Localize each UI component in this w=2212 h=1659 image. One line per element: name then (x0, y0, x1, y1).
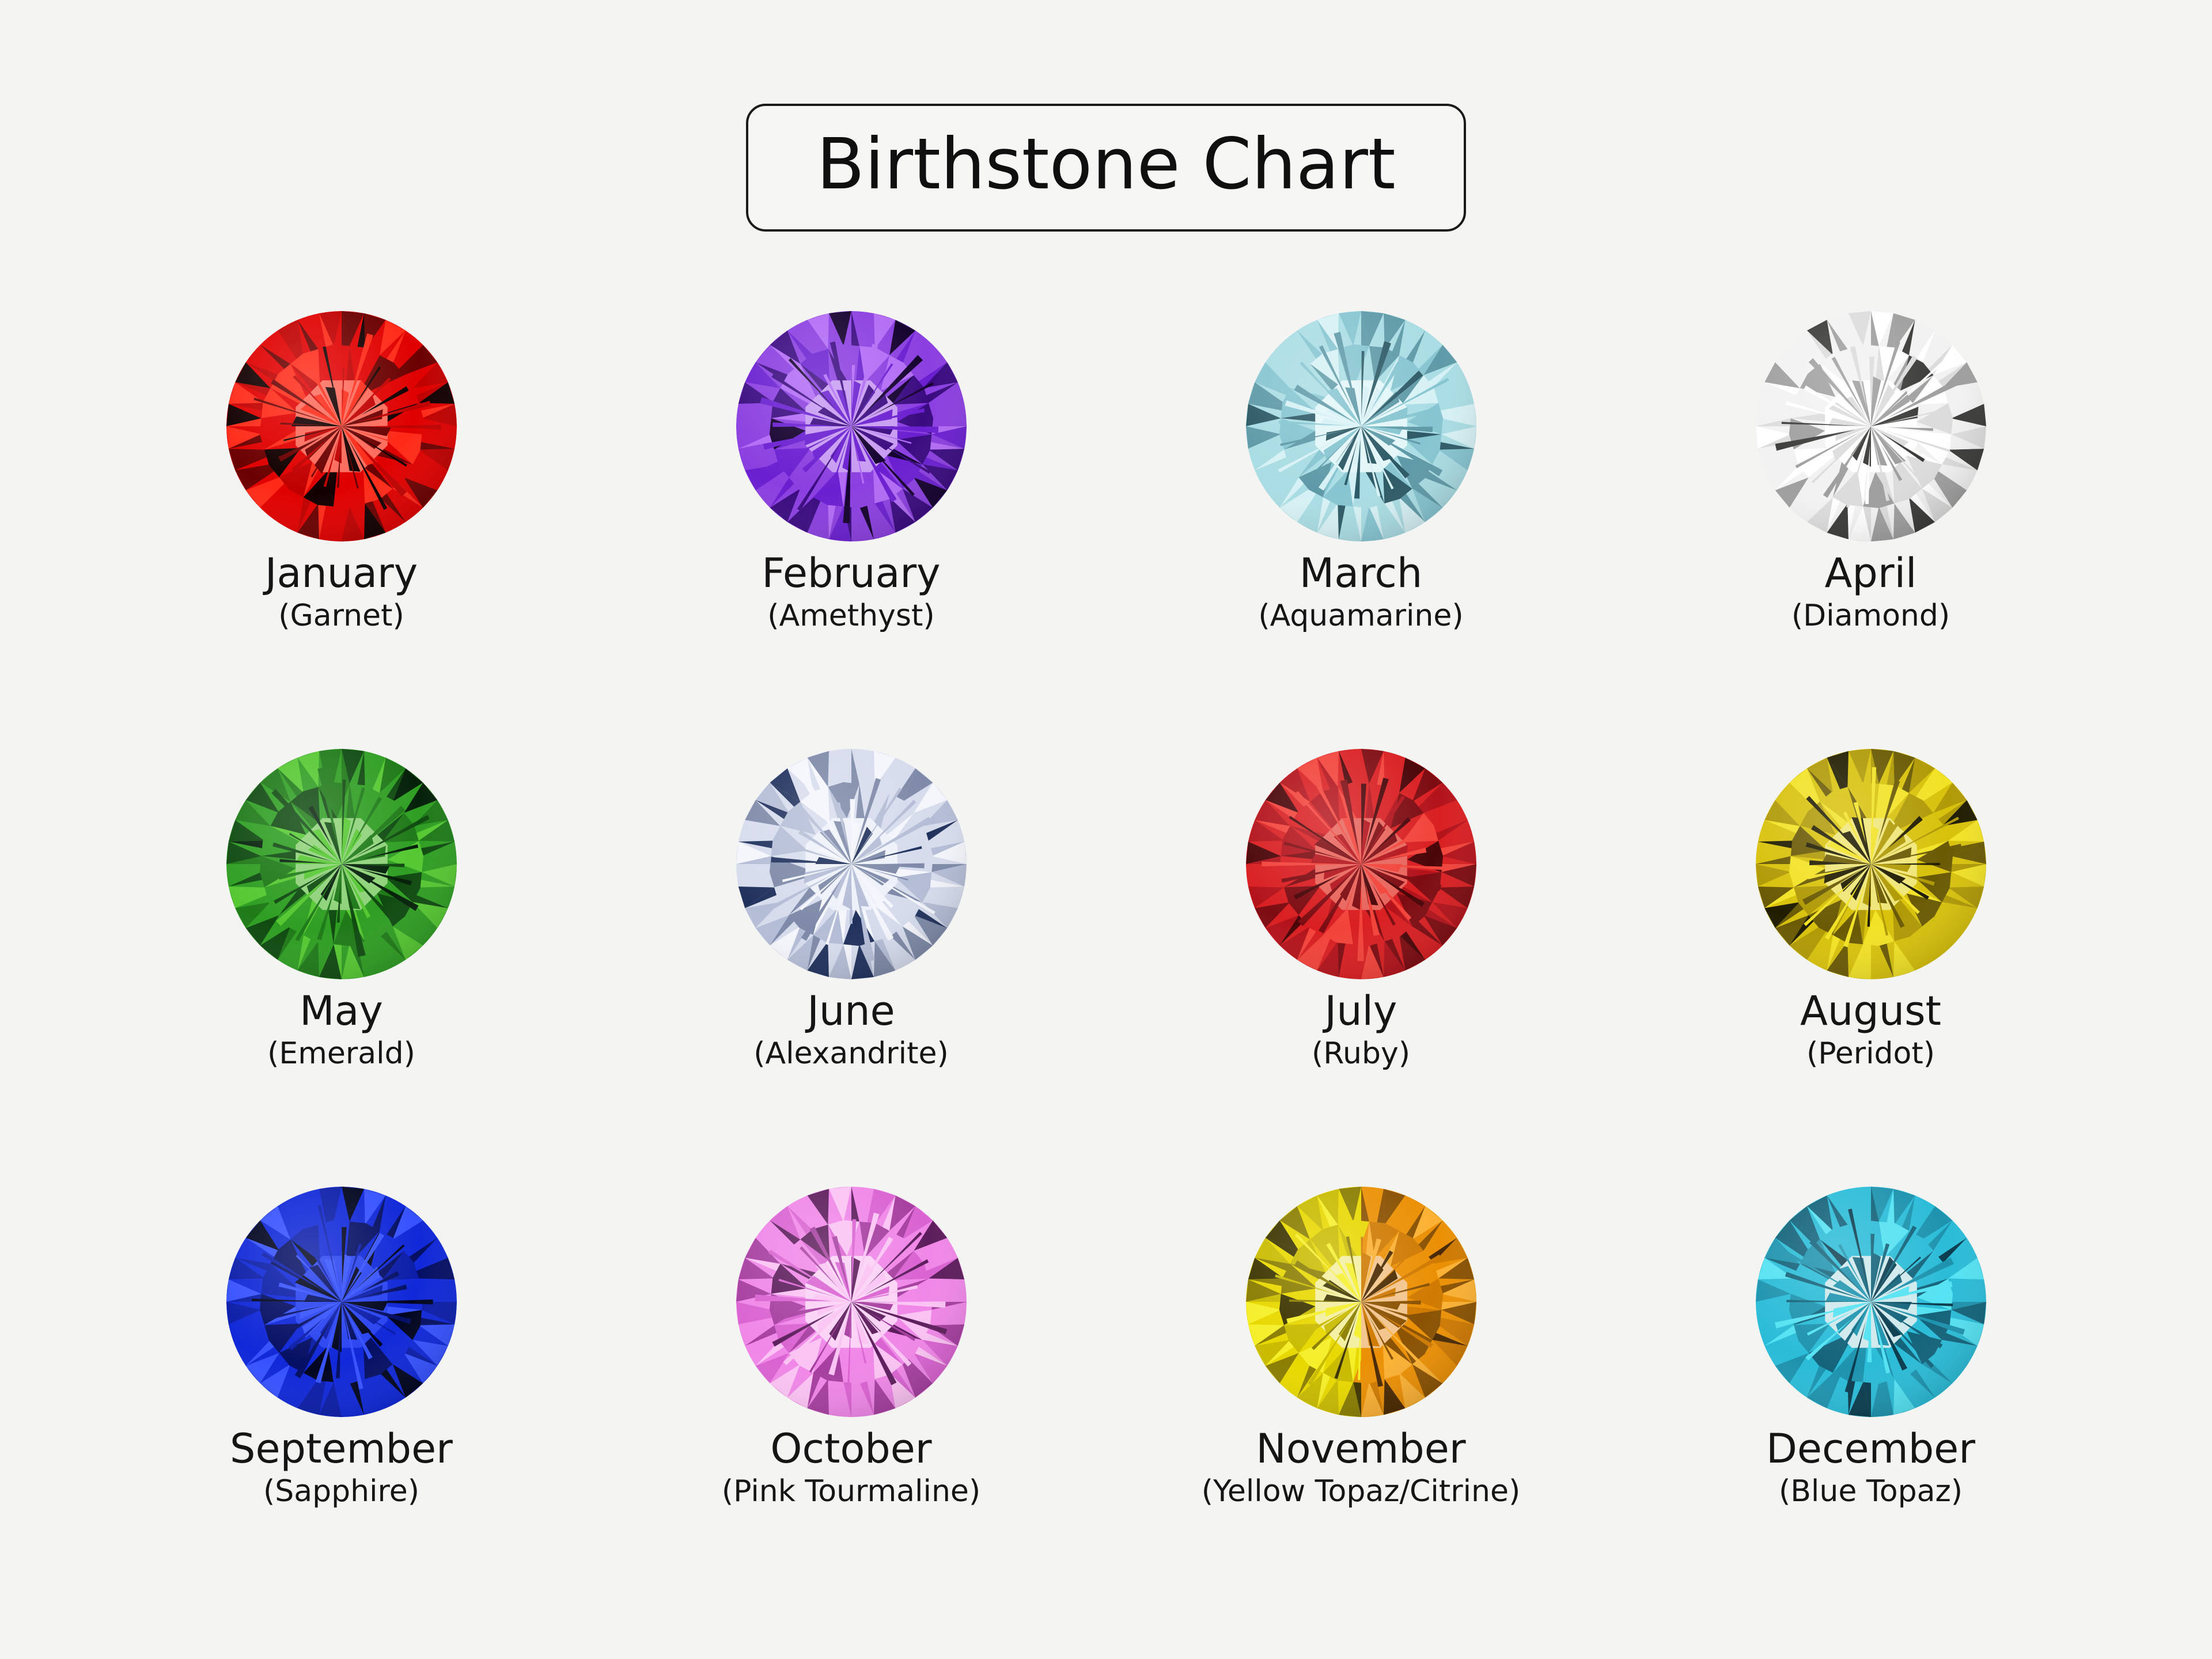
round-brilliant-gem-icon (736, 1187, 967, 1417)
round-brilliant-gem-icon (1756, 311, 1986, 541)
month-label: March (1300, 553, 1422, 594)
birthstone-cell[interactable]: November(Yellow Topaz/Citrine) (1106, 1187, 1616, 1624)
round-brilliant-gem-icon (1246, 311, 1476, 541)
birthstone-cell[interactable]: May(Emerald) (86, 749, 596, 1187)
stone-label: (Yellow Topaz/Citrine) (1202, 1476, 1521, 1507)
stone-label: (Garnet) (278, 601, 404, 631)
birthstone-cell[interactable]: March(Aquamarine) (1106, 311, 1616, 749)
month-label: July (1325, 991, 1397, 1032)
round-brilliant-gem-icon (736, 749, 967, 979)
month-label: May (300, 991, 383, 1032)
page-title: Birthstone Chart (816, 129, 1395, 199)
birthstone-cell[interactable]: June(Alexandrite) (596, 749, 1106, 1187)
stone-label: (Diamond) (1791, 601, 1950, 631)
round-brilliant-gem-icon (736, 311, 967, 541)
stone-label: (Pink Tourmaline) (722, 1476, 980, 1507)
month-label: November (1256, 1429, 1465, 1469)
birthstone-cell[interactable]: February(Amethyst) (596, 311, 1106, 749)
title-bar: Birthstone Chart (0, 104, 2212, 232)
round-brilliant-gem-icon (1246, 749, 1476, 979)
birthstone-cell[interactable]: September(Sapphire) (86, 1187, 596, 1624)
month-label: September (230, 1429, 453, 1469)
birthstone-grid: January(Garnet)February(Amethyst)March(A… (86, 311, 2126, 1624)
birthstone-cell[interactable]: October(Pink Tourmaline) (596, 1187, 1106, 1624)
birthstone-cell[interactable]: July(Ruby) (1106, 749, 1616, 1187)
round-brilliant-gem-icon (1756, 1187, 1986, 1417)
month-label: April (1825, 553, 1917, 594)
birthstone-cell[interactable]: January(Garnet) (86, 311, 596, 749)
stone-label: (Amethyst) (767, 601, 934, 631)
title-box: Birthstone Chart (746, 104, 1465, 232)
round-brilliant-gem-icon (226, 749, 457, 979)
round-brilliant-gem-icon-split (1246, 1187, 1476, 1417)
stone-label: (Ruby) (1312, 1039, 1410, 1069)
stone-label: (Alexandrite) (753, 1039, 948, 1069)
birthstone-cell[interactable]: December(Blue Topaz) (1616, 1187, 2126, 1624)
month-label: October (770, 1429, 931, 1469)
month-label: February (762, 553, 940, 594)
month-label: June (807, 991, 895, 1032)
stone-label: (Peridot) (1806, 1039, 1935, 1069)
round-brilliant-gem-icon (226, 1187, 457, 1417)
month-label: December (1766, 1429, 1975, 1469)
birthstone-cell[interactable]: April(Diamond) (1616, 311, 2126, 749)
stone-label: (Emerald) (267, 1039, 415, 1069)
month-label: August (1800, 991, 1941, 1032)
stone-label: (Aquamarine) (1258, 601, 1463, 631)
round-brilliant-gem-icon (1756, 749, 1986, 979)
round-brilliant-gem-icon (226, 311, 457, 541)
birthstone-cell[interactable]: August(Peridot) (1616, 749, 2126, 1187)
month-label: January (265, 553, 418, 594)
stone-label: (Sapphire) (263, 1476, 419, 1507)
stone-label: (Blue Topaz) (1779, 1476, 1963, 1507)
